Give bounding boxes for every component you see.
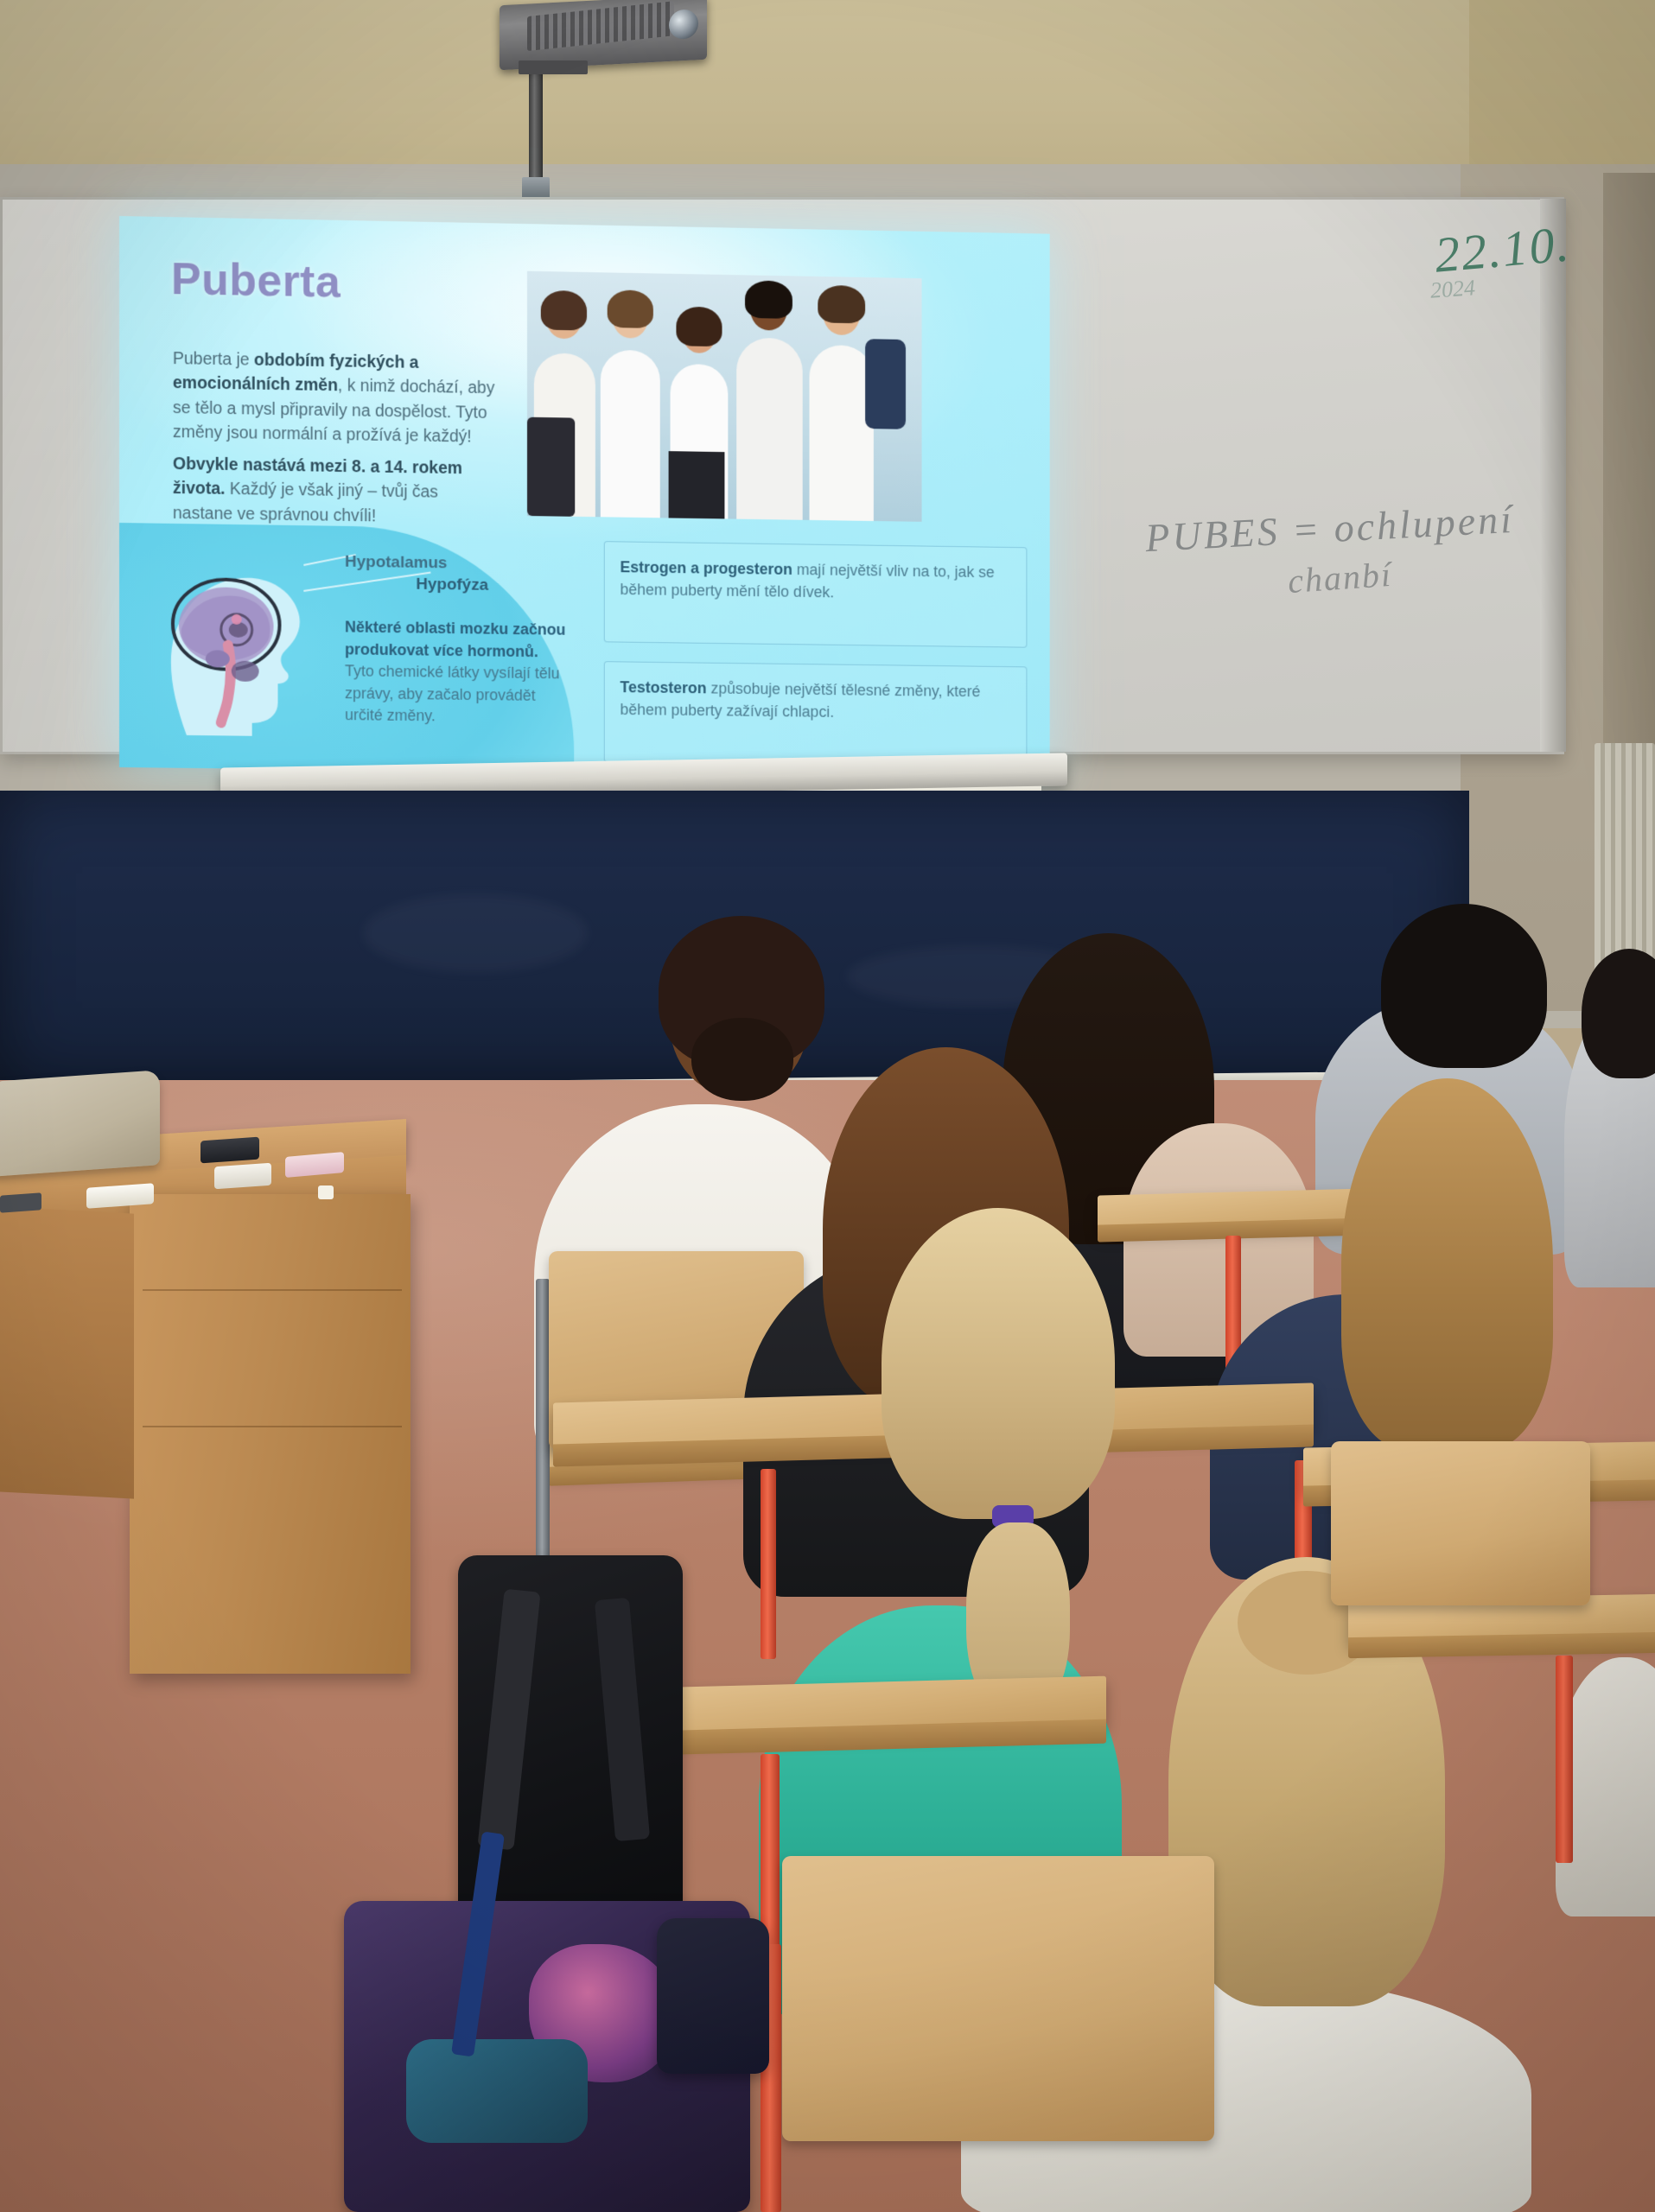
slide-brain-text: Některé oblasti mozku začnou produkovat … bbox=[345, 616, 569, 728]
whiteboard-eraser[interactable] bbox=[214, 1163, 271, 1190]
slide-label-pituitary: Hypofýza bbox=[416, 575, 488, 595]
slide-teens-photo bbox=[527, 271, 922, 522]
chair-row3-front[interactable] bbox=[782, 1856, 1214, 2141]
classroom-scene: 22.10. 2024 PUBES = ochlupení chanbí Pub… bbox=[0, 0, 1655, 2212]
floral-backpack-pocket bbox=[406, 2039, 588, 2143]
brain-text-bold: Některé oblasti mozku začnou produkovat … bbox=[345, 618, 565, 659]
chair-row2-right[interactable] bbox=[1331, 1441, 1590, 1605]
photo-teen-3-skirt bbox=[669, 451, 725, 518]
navy-bag[interactable] bbox=[657, 1918, 769, 2074]
student-teal-shirt-hair bbox=[882, 1208, 1115, 1519]
student-grey-hoodie-hair bbox=[1381, 904, 1547, 1068]
desk-leg-grey-1 bbox=[536, 1279, 550, 1564]
photo-teen-2-hair bbox=[608, 289, 653, 328]
remote-control[interactable] bbox=[0, 1192, 41, 1212]
projector-mount-plate bbox=[519, 60, 588, 74]
projected-slide: Puberta Puberta je obdobím fyzických a e… bbox=[119, 216, 1050, 778]
teacher-desk-drawer-line-2 bbox=[143, 1426, 402, 1427]
photo-teen-3-hair bbox=[676, 307, 722, 347]
photo-teen-4-hair bbox=[745, 280, 792, 319]
projector-vent bbox=[527, 1, 674, 51]
chalk-smudge-1 bbox=[363, 894, 588, 972]
projector-lens bbox=[669, 9, 698, 40]
para1-part1: Puberta je bbox=[173, 349, 254, 370]
desk-leg-red-4 bbox=[761, 1469, 776, 1659]
slide-label-hypothalamus: Hypotalamus bbox=[345, 553, 447, 574]
canvas-bag[interactable] bbox=[0, 1070, 160, 1177]
photo-teen-5-hair bbox=[818, 285, 865, 324]
photo-teen-5-backpack bbox=[865, 339, 906, 429]
estrogen-bold: Estrogen a progesteron bbox=[620, 558, 792, 578]
slide-title: Puberta bbox=[171, 253, 341, 308]
student-white-shirt-bun bbox=[691, 1018, 793, 1101]
slide-paragraph-2: Obvykle nastává mezi 8. a 14. rokem živo… bbox=[173, 452, 499, 530]
teacher-desk-body bbox=[130, 1194, 411, 1674]
teacher-desk-drawer-line-1 bbox=[143, 1289, 402, 1291]
slide-hormone-box-estrogen: Estrogen a progesteron mají největší vli… bbox=[604, 541, 1028, 648]
student-navy-top-hair bbox=[1341, 1078, 1553, 1450]
whiteboard-right-edge bbox=[1540, 199, 1566, 752]
chalk-piece[interactable] bbox=[318, 1185, 334, 1199]
testosterone-bold: Testosteron bbox=[620, 678, 706, 696]
smartphone[interactable] bbox=[201, 1137, 259, 1164]
photo-teen-1-bag bbox=[527, 417, 575, 517]
photo-teen-4 bbox=[736, 338, 802, 520]
slide-paragraph-1: Puberta je obdobím fyzických a emocionál… bbox=[173, 346, 499, 449]
brain-text-rest: Tyto chemické látky vysílají tělu zprávy… bbox=[345, 662, 560, 724]
photo-teen-1-hair bbox=[541, 290, 587, 331]
teacher-desk-side-panel bbox=[0, 1205, 134, 1498]
slide-brain-diagram bbox=[152, 550, 315, 737]
desk-leg-red-6 bbox=[1556, 1656, 1573, 1863]
slide-hormone-box-testosterone: Testosteron způsobuje největší tělesné z… bbox=[604, 661, 1028, 767]
brain-head-icon bbox=[152, 550, 315, 737]
photo-teen-5 bbox=[810, 345, 874, 521]
photo-teen-2 bbox=[601, 350, 660, 518]
